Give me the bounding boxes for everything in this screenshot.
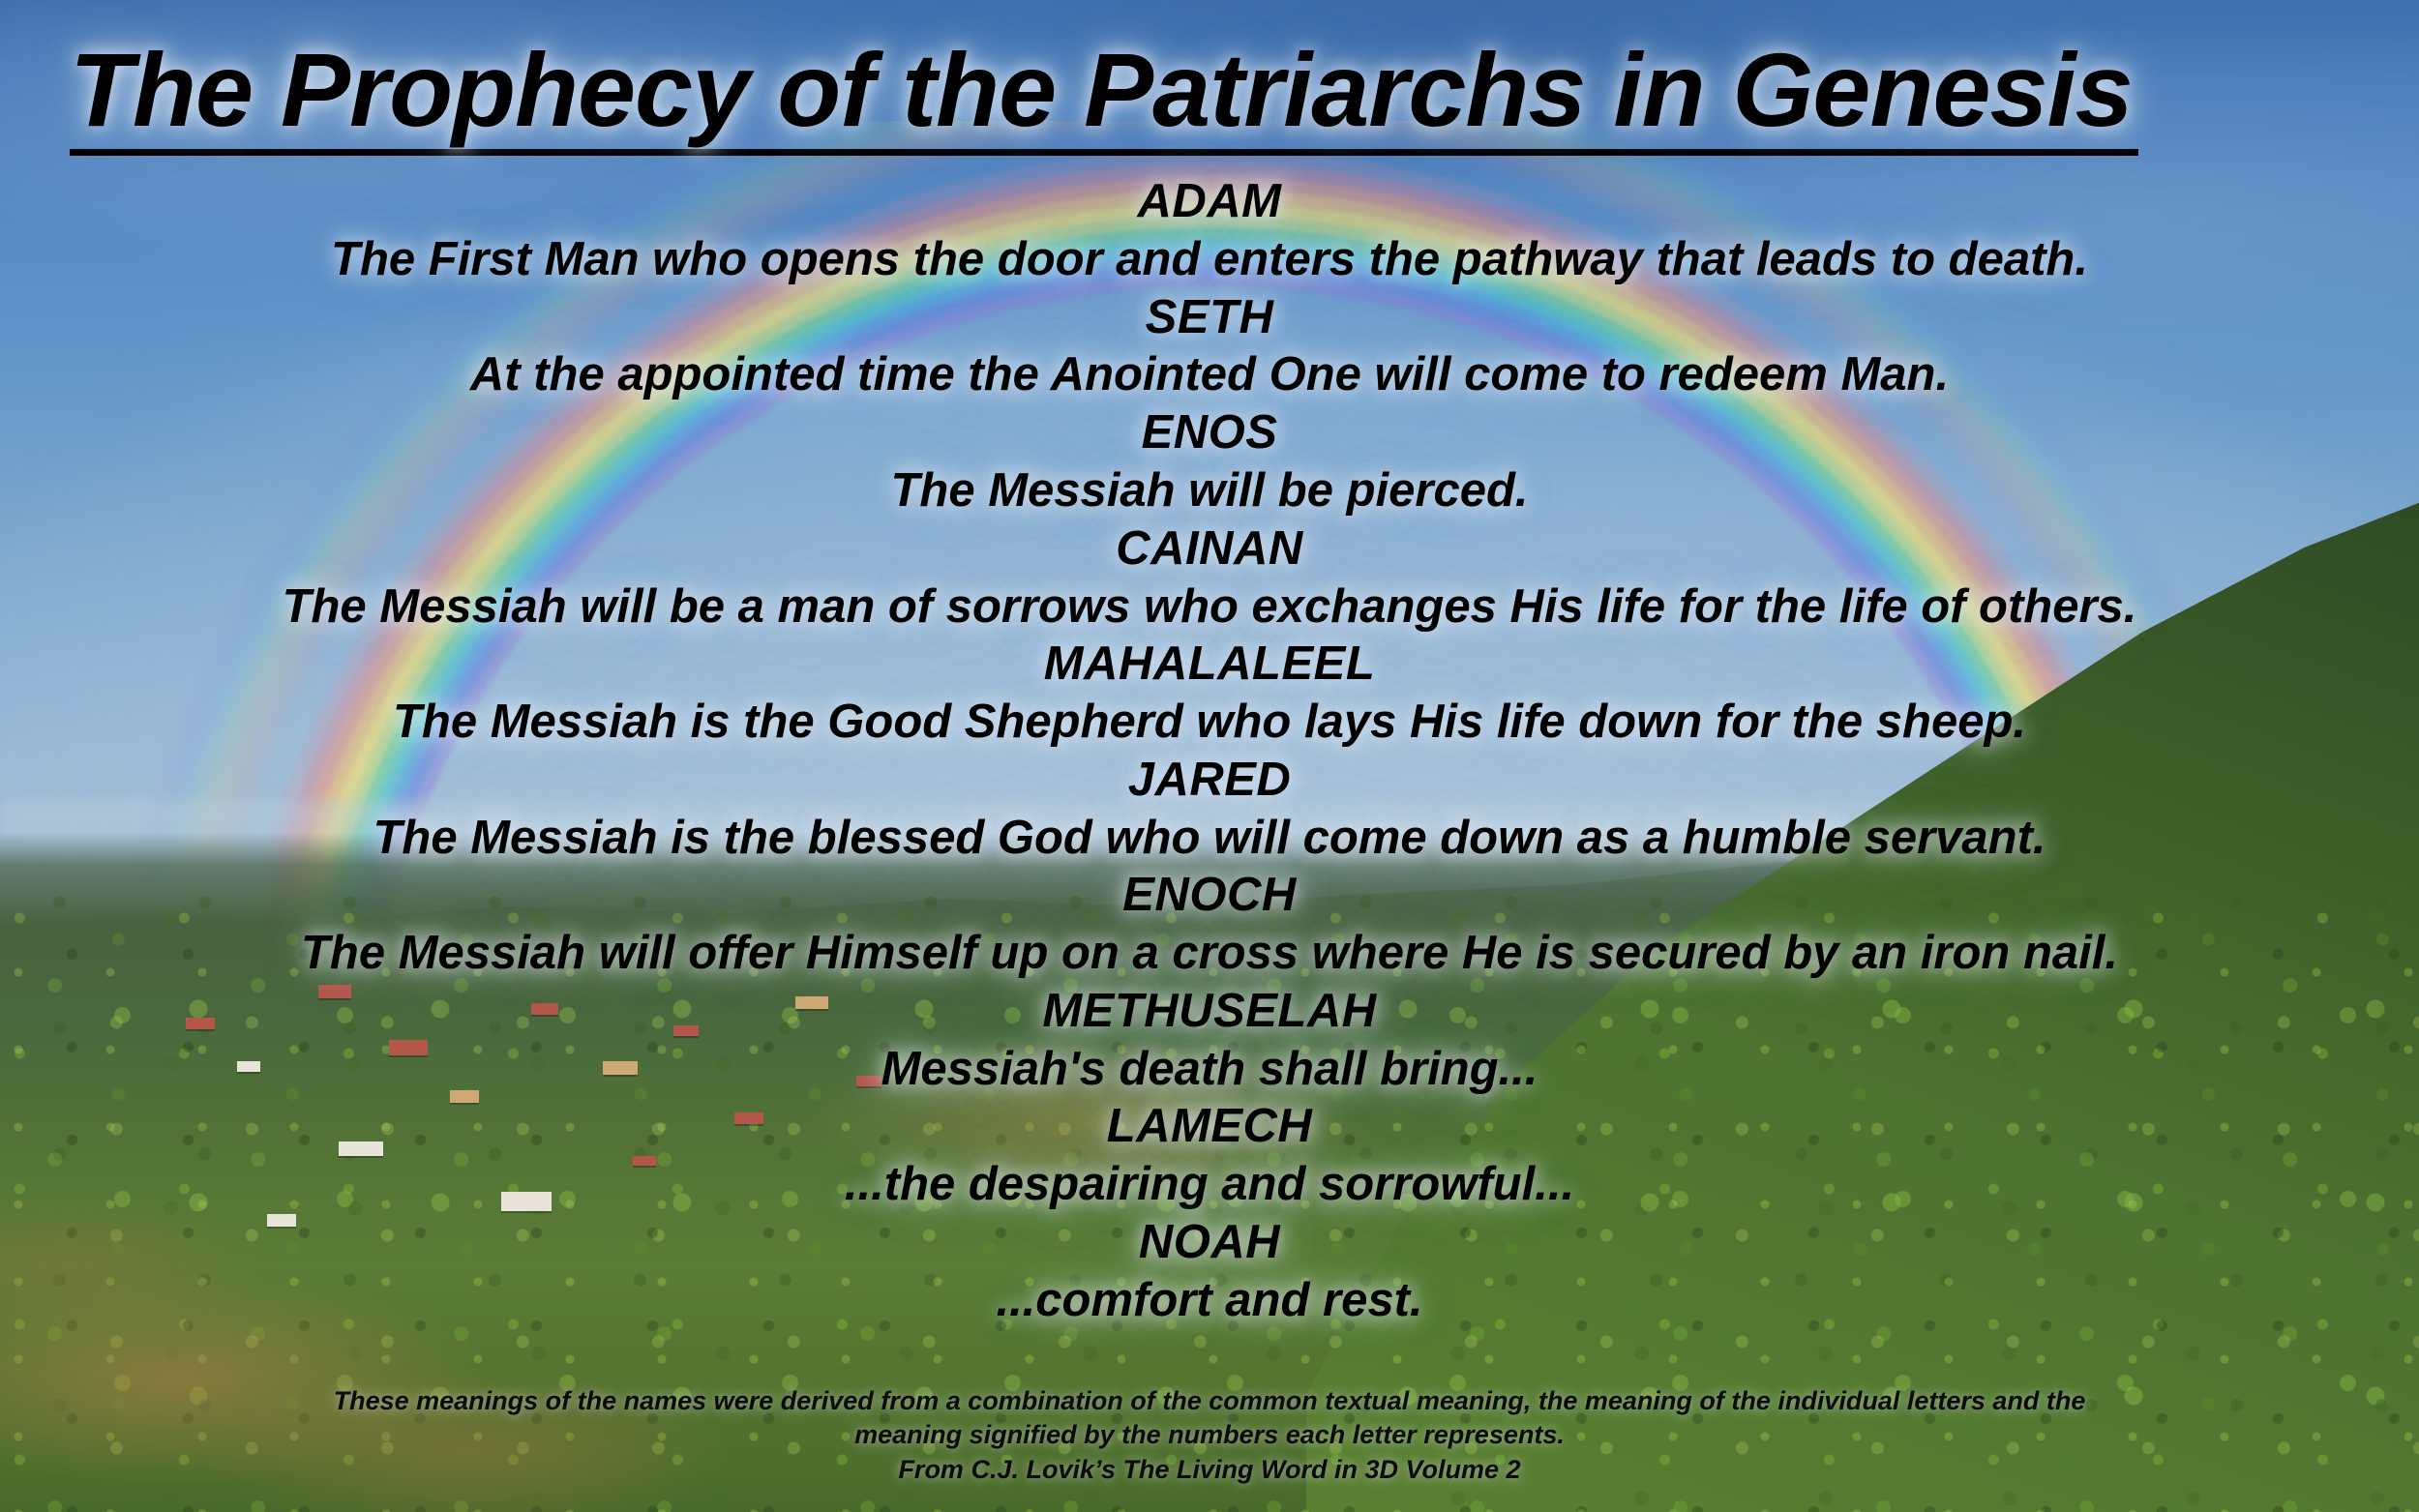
footnote-line-2: meaning signified by the numbers each le…	[23, 1418, 2396, 1452]
list-item: JARED The Messiah is the blessed God who…	[0, 752, 2419, 868]
patriarch-meaning: The First Man who opens the door and ent…	[0, 231, 2419, 289]
list-item: ADAM The First Man who opens the door an…	[0, 173, 2419, 289]
list-item: MAHALALEEL The Messiah is the Good Sheph…	[0, 636, 2419, 752]
list-item: CAINAN The Messiah will be a man of sorr…	[0, 520, 2419, 637]
patriarch-name: ADAM	[0, 173, 2419, 231]
footnote-line-1: These meanings of the names were derived…	[23, 1384, 2396, 1418]
list-item: ENOCH The Messiah will offer Himself up …	[0, 867, 2419, 983]
text-overlay: The Prophecy of the Patriarchs in Genesi…	[0, 0, 2419, 1512]
patriarch-name: METHUSELAH	[0, 983, 2419, 1041]
patriarch-list: ADAM The First Man who opens the door an…	[0, 173, 2419, 1329]
patriarch-meaning: At the appointed time the Anointed One w…	[0, 346, 2419, 404]
patriarch-meaning: The Messiah is the blessed God who will …	[0, 810, 2419, 868]
patriarch-name: CAINAN	[0, 520, 2419, 578]
patriarch-meaning: The Messiah will be a man of sorrows who…	[0, 578, 2419, 637]
patriarch-meaning: The Messiah will offer Himself up on a c…	[0, 925, 2419, 983]
patriarch-meaning: Messiah's death shall bring...	[0, 1041, 2419, 1099]
patriarch-name: MAHALALEEL	[0, 636, 2419, 694]
list-item: LAMECH ...the despairing and sorrowful..…	[0, 1098, 2419, 1214]
patriarch-name: JARED	[0, 752, 2419, 810]
footnote-source: From C.J. Lovik’s The Living Word in 3D …	[23, 1453, 2396, 1487]
patriarch-name: LAMECH	[0, 1098, 2419, 1156]
patriarch-name: NOAH	[0, 1214, 2419, 1272]
list-item: SETH At the appointed time the Anointed …	[0, 289, 2419, 405]
page-title: The Prophecy of the Patriarchs in Genesi…	[70, 37, 2138, 156]
list-item: NOAH ...comfort and rest.	[0, 1214, 2419, 1330]
patriarch-name: ENOCH	[0, 867, 2419, 925]
patriarch-meaning: The Messiah will be pierced.	[0, 462, 2419, 520]
poster: The Prophecy of the Patriarchs in Genesi…	[0, 0, 2419, 1512]
patriarch-name: SETH	[0, 289, 2419, 347]
patriarch-meaning: The Messiah is the Good Shepherd who lay…	[0, 694, 2419, 752]
list-item: ENOS The Messiah will be pierced.	[0, 404, 2419, 520]
footnote: These meanings of the names were derived…	[0, 1384, 2419, 1487]
patriarch-meaning: ...the despairing and sorrowful...	[0, 1156, 2419, 1214]
list-item: METHUSELAH Messiah's death shall bring..…	[0, 983, 2419, 1099]
patriarch-name: ENOS	[0, 404, 2419, 462]
patriarch-meaning: ...comfort and rest.	[0, 1272, 2419, 1330]
